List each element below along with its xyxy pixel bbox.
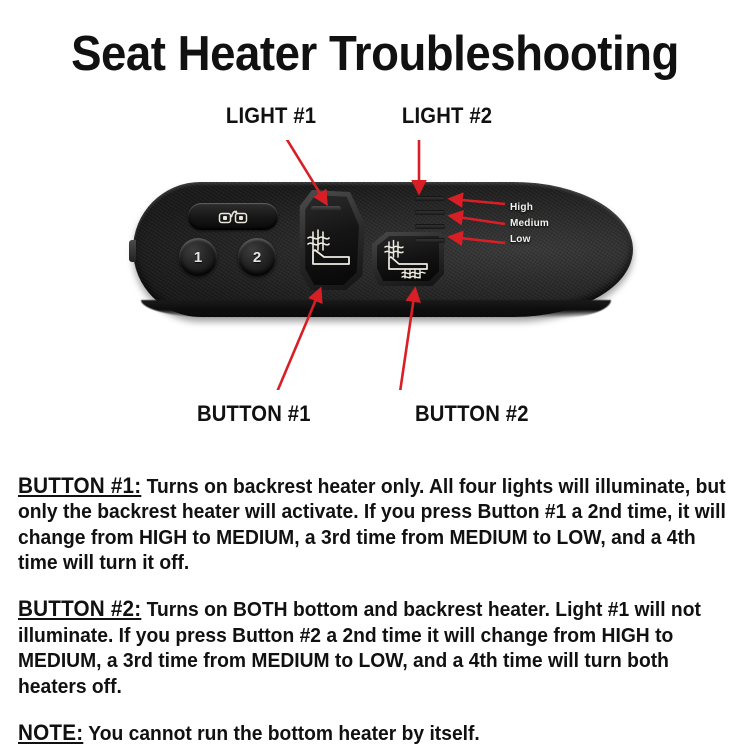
instruction-note-text: You cannot run the bottom heater by itse… [83, 722, 480, 745]
memory-button-1[interactable]: 1 [179, 238, 217, 276]
button-1-highlight-slot [311, 206, 341, 211]
callout-label-light-2: LIGHT #2 [402, 103, 492, 129]
page-title: Seat Heater Troubleshooting [26, 30, 724, 79]
level-label-low: Low [510, 234, 531, 245]
callout-label-light-1: LIGHT #1 [226, 103, 316, 129]
seat-memory-icon [218, 209, 248, 225]
level-label-high: High [510, 202, 533, 213]
backrest-heater-icon [307, 224, 355, 276]
instruction-note: NOTE: You cannot run the bottom heater b… [18, 720, 734, 747]
instruction-note-lead: NOTE: [18, 720, 83, 745]
instruction-button-1: BUTTON #1: Turns on backrest heater only… [18, 473, 734, 576]
callout-label-button-2: BUTTON #2 [415, 401, 529, 427]
indicator-light-2 [415, 210, 445, 215]
seat-memory-oval-button[interactable] [188, 203, 278, 230]
seat-heater-control-diagram: 1 2 [0, 140, 750, 390]
control-panel-side-nub [129, 240, 136, 262]
indicator-light-3 [415, 224, 445, 229]
memory-button-2[interactable]: 2 [238, 238, 276, 276]
level-label-medium: Medium [510, 218, 549, 229]
callout-label-button-1: BUTTON #1 [197, 401, 311, 427]
instructions-body: BUTTON #1: Turns on backrest heater only… [18, 452, 734, 746]
full-seat-heater-icon [383, 239, 435, 279]
indicator-light-1 [415, 196, 445, 201]
instruction-button-2: BUTTON #2: Turns on BOTH bottom and back… [18, 596, 734, 699]
indicator-light-4 [415, 238, 445, 243]
instruction-button-2-lead: BUTTON #2: [18, 596, 141, 621]
control-panel-lip [141, 300, 611, 318]
instruction-button-1-lead: BUTTON #1: [18, 473, 141, 498]
